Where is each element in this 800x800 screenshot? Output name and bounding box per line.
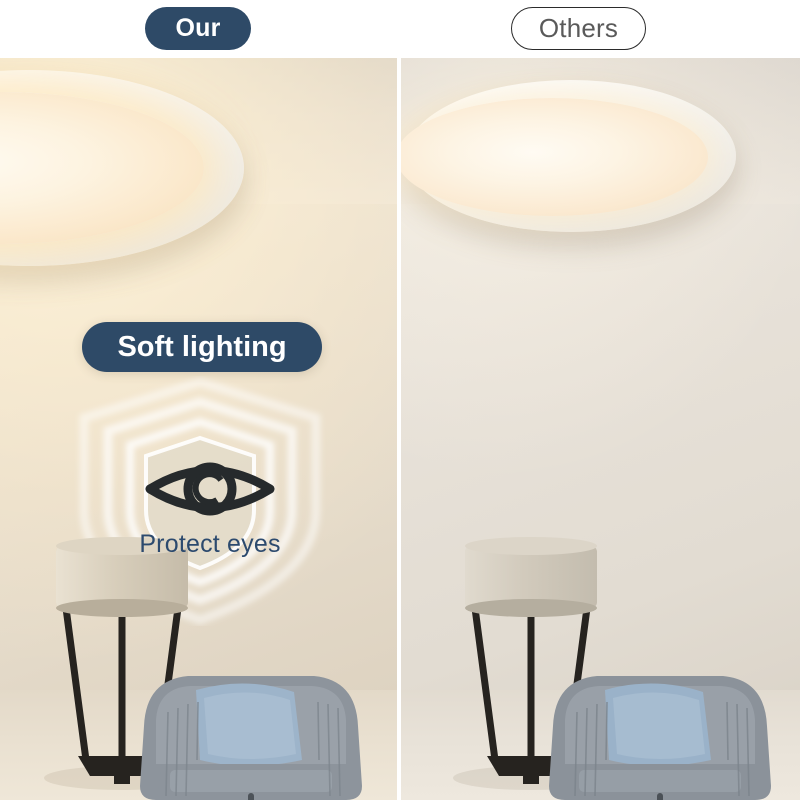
panel-divider (397, 58, 401, 800)
throw-pillow (196, 683, 302, 766)
header-bar: Our Others (0, 0, 800, 58)
armchair (535, 668, 785, 800)
scene-right (401, 58, 800, 800)
others-product-panel: Harsh light (401, 58, 800, 800)
feature-protect-eyes: Protect eyes (100, 450, 320, 559)
our-product-panel: Soft lighting Protect eyes (0, 58, 397, 800)
headline-soft-lighting: Soft lighting (82, 322, 322, 372)
badge-our[interactable]: Our (145, 7, 251, 50)
scene-left (0, 58, 397, 800)
comparison-image: Our Others (0, 0, 800, 800)
armchair (126, 668, 376, 800)
badge-others[interactable]: Others (511, 7, 646, 50)
protect-eye-icon (100, 450, 320, 528)
protect-eyes-label: Protect eyes (100, 530, 320, 559)
throw-pillow (605, 683, 711, 766)
